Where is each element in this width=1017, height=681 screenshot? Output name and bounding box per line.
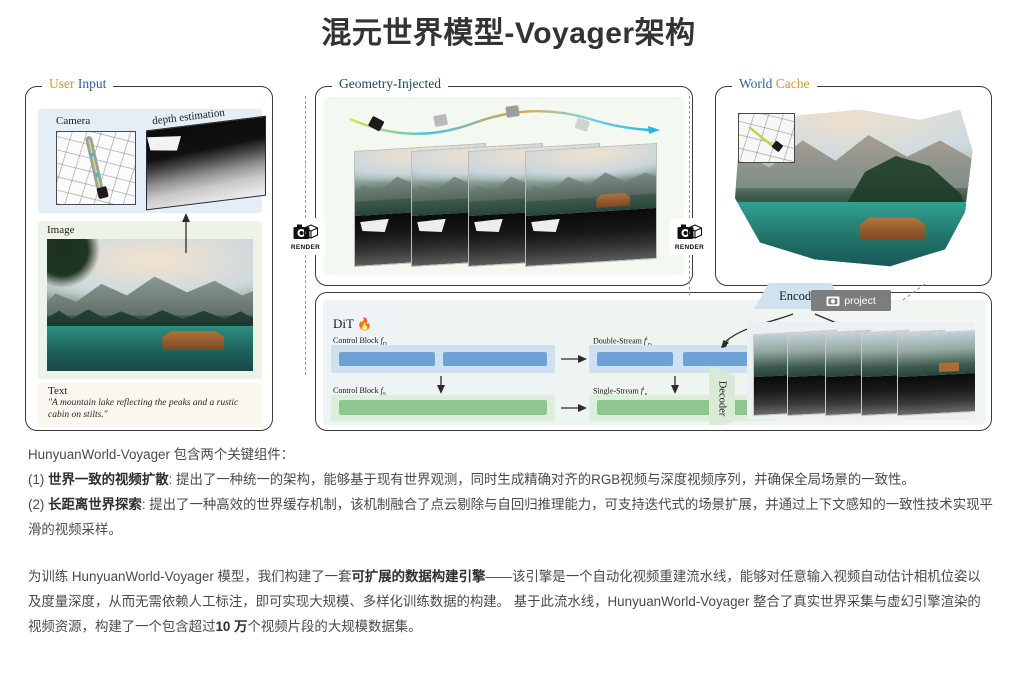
- render-label-right: RENDER: [675, 244, 704, 251]
- photo-cabin: [162, 329, 224, 350]
- camera-depth-row: Camera depth estimation: [38, 109, 262, 213]
- wc-lake: [730, 202, 980, 273]
- panel-geometry-injected: Geometry-Injected: [315, 86, 693, 286]
- panel-label-user-input: User Input: [42, 76, 113, 92]
- page-title: 混元世界模型-Voyager架构: [0, 8, 1017, 52]
- dashed-line-right-bottom: [689, 255, 690, 295]
- depth-map-image: [146, 116, 266, 211]
- camera-icon: [826, 295, 840, 307]
- body-paragraph-3: (2) 长距离世界探索: 提出了一种高效的世界缓存机制，该机制融合了点云剔除与自…: [28, 492, 993, 542]
- render-badge-left: RENDER: [286, 218, 325, 255]
- wc-cabin: [860, 215, 925, 239]
- arrow-image-to-depth: [179, 213, 193, 253]
- decoder-block: Decoder: [709, 366, 735, 425]
- render-camera-cube-icon: [677, 222, 703, 243]
- output-frames-strip: [747, 322, 975, 420]
- camera-trajectory-box: [56, 131, 136, 205]
- input-image-wrap: Image: [38, 221, 262, 379]
- geometry-inner: [324, 97, 684, 275]
- body-paragraph-2: (1) 世界一致的视频扩散: 提出了一种统一的架构，能够基于现有世界观测，同时生…: [28, 467, 993, 492]
- frame-rgb: [526, 144, 656, 216]
- frame-depth: [526, 208, 656, 266]
- panel-label-world-cache: World Cache: [732, 76, 817, 92]
- photo-tree: [47, 239, 111, 287]
- project-label: project: [844, 295, 876, 307]
- figure-page: 混元世界模型-Voyager架构 User Input Camera depth…: [0, 0, 1017, 681]
- project-badge: project: [811, 290, 891, 311]
- camera-path-icon: [745, 122, 787, 156]
- geometry-frame: [525, 143, 657, 267]
- camera-trajectory-curve: [344, 103, 662, 145]
- out-cabin: [939, 362, 959, 372]
- out-rgb: [898, 331, 975, 377]
- geometry-frames: [354, 147, 654, 267]
- body-text: HunyuanWorld-Voyager 包含两个关键组件： (1) 世界一致的…: [28, 442, 993, 639]
- text-label: Text: [48, 385, 67, 397]
- dashed-line-right-top: [689, 96, 690, 218]
- render-camera-cube-icon: [293, 222, 319, 243]
- label-user: User: [49, 76, 75, 91]
- label-world: World: [739, 76, 772, 91]
- output-frame: [897, 330, 975, 416]
- prompt-text: "A mountain lake reflecting the peaks an…: [48, 397, 254, 421]
- render-badge-right: RENDER: [670, 218, 709, 255]
- camera-label: Camera: [56, 115, 90, 127]
- out-depth: [898, 372, 975, 415]
- world-cache-camera-box: [738, 113, 795, 163]
- panel-world-cache: World Cache: [715, 86, 992, 286]
- decoder-label: Decoder: [717, 380, 728, 416]
- body-paragraph-4: 为训练 HunyuanWorld-Voyager 模型，我们构建了一套可扩展的数…: [28, 564, 993, 639]
- input-photo: [47, 239, 253, 371]
- dit-inner: DiT 🔥 Control Block fD Double-Stream fiD: [323, 300, 986, 425]
- dashed-line-left-top: [305, 96, 306, 218]
- panel-user-input: User Input Camera depth estimation: [25, 86, 273, 431]
- image-label: Image: [47, 224, 74, 236]
- text-prompt-box: Text "A mountain lake reflecting the pea…: [38, 383, 262, 427]
- panel-label-geometry: Geometry-Injected: [332, 76, 448, 92]
- architecture-figure: User Input Camera depth estimation: [25, 78, 992, 433]
- body-paragraph-1: HunyuanWorld-Voyager 包含两个关键组件：: [28, 442, 993, 467]
- panel-dit: DiT 🔥 Control Block fD Double-Stream fiD: [315, 292, 992, 431]
- render-label-left: RENDER: [291, 244, 320, 251]
- label-input: Input: [78, 76, 107, 91]
- dashed-line-left-bottom: [305, 255, 306, 375]
- label-cache: Cache: [776, 76, 810, 91]
